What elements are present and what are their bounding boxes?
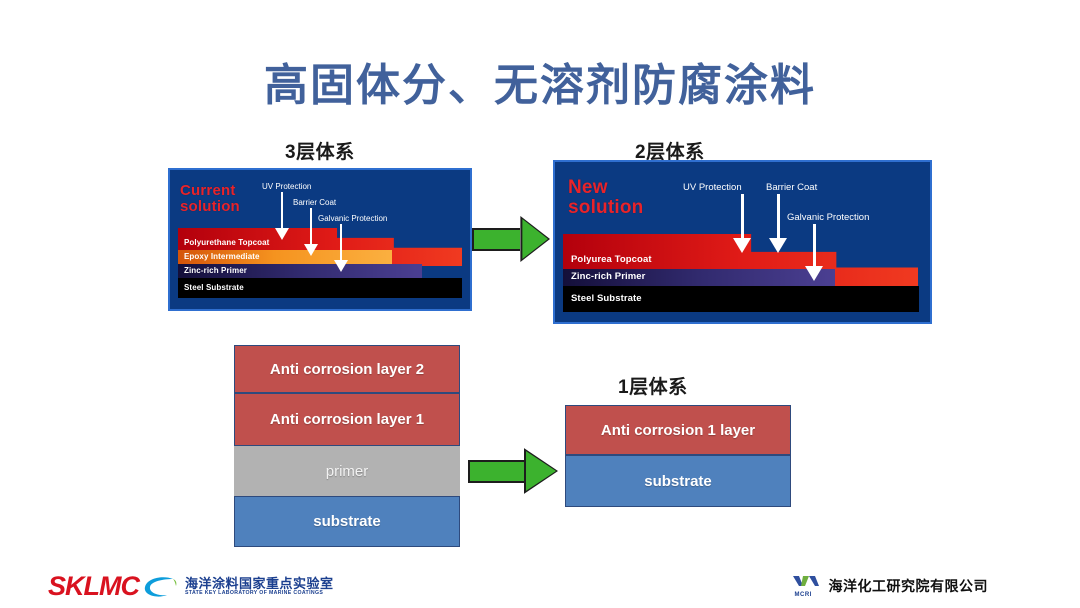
logo-mcri: MCRI 海洋化工研究院有限公司 bbox=[792, 574, 989, 598]
sklmc-chinese-name: 海洋涂料国家重点实验室 bbox=[185, 577, 334, 591]
panel-caption-current-solution: Current solution bbox=[180, 183, 240, 215]
callout-arrowhead-barrier bbox=[769, 238, 787, 253]
stratum-label-zinc-rich-primer: Zinc-rich Primer bbox=[184, 266, 247, 275]
slide-canvas: 高固体分、无溶剂防腐涂料 3层体系 2层体系 1层体系 Current solu… bbox=[0, 0, 1080, 608]
caption-line-2: solution bbox=[180, 198, 240, 215]
stratum-label-steel-substrate: Steel Substrate bbox=[184, 283, 244, 292]
stratum-label-polyurethane-topcoat: Polyurethane Topcoat bbox=[184, 238, 269, 247]
mcri-acronym: MCRI bbox=[795, 592, 812, 598]
callout-arrowhead-galvanic bbox=[334, 260, 348, 272]
callout-arrowhead-barrier bbox=[304, 244, 318, 256]
sklmc-text-block: 海洋涂料国家重点实验室 STATE KEY LABORATORY OF MARI… bbox=[185, 577, 334, 596]
transition-arrow-multi-to-1 bbox=[468, 448, 558, 494]
caption-line-2: solution bbox=[568, 197, 643, 218]
callout-label-galvanic-protection: Galvanic Protection bbox=[787, 212, 869, 223]
callout-stem-barrier bbox=[310, 208, 312, 246]
panel-caption-new-solution: New solution bbox=[568, 178, 643, 218]
page-title: 高固体分、无溶剂防腐涂料 bbox=[0, 60, 1080, 113]
stratum-label-polyurea-topcoat: Polyurea Topcoat bbox=[571, 254, 652, 265]
arrow-tip bbox=[526, 451, 556, 491]
callout-label-barrier-coat: Barrier Coat bbox=[293, 198, 336, 207]
caption-line-1: New bbox=[568, 177, 608, 198]
heading-one-layer-system: 1层体系 bbox=[618, 372, 688, 399]
layer-box-primer: primer bbox=[234, 446, 460, 496]
layer-box-anti-corrosion-2: Anti corrosion layer 2 bbox=[234, 345, 460, 393]
arrow-shaft bbox=[472, 228, 520, 251]
mcri-chinese-name: 海洋化工研究院有限公司 bbox=[829, 576, 989, 596]
transition-arrow-3-to-2 bbox=[472, 216, 550, 262]
heading-three-layer-system: 3层体系 bbox=[285, 137, 355, 164]
layer-box-anti-corrosion-1-layer: Anti corrosion 1 layer bbox=[565, 405, 791, 455]
callout-arrowhead-uv bbox=[733, 238, 751, 253]
stratum-label-zinc-rich-primer: Zinc-rich Primer bbox=[571, 271, 645, 282]
arrow-shaft bbox=[468, 460, 524, 483]
schematic-panel-new-solution: New solution UV Protection Barrier Coat … bbox=[553, 160, 932, 324]
footer: SKLMC 海洋涂料国家重点实验室 STATE KEY LABORATORY O… bbox=[0, 560, 1080, 608]
arrow-tip bbox=[522, 219, 548, 259]
callout-stem-uv bbox=[281, 192, 283, 230]
layer-box-substrate: substrate bbox=[565, 455, 791, 507]
mcri-mark-icon: MCRI bbox=[792, 574, 822, 598]
layer-stack-single: Anti corrosion 1 layer substrate bbox=[565, 405, 791, 507]
callout-label-barrier-coat: Barrier Coat bbox=[766, 182, 817, 193]
callout-stem-galvanic bbox=[813, 224, 816, 268]
layer-box-substrate: substrate bbox=[234, 496, 460, 547]
sklmc-english-name: STATE KEY LABORATORY OF MARINE COATINGS bbox=[185, 591, 334, 596]
stratum-label-steel-substrate: Steel Substrate bbox=[571, 293, 642, 304]
callout-label-uv-protection: UV Protection bbox=[683, 182, 742, 193]
layer-box-anti-corrosion-1: Anti corrosion layer 1 bbox=[234, 393, 460, 446]
callout-stem-uv bbox=[741, 194, 744, 240]
caption-line-1: Current bbox=[180, 182, 236, 199]
layer-stack-conventional: Anti corrosion layer 2 Anti corrosion la… bbox=[234, 345, 460, 547]
callout-arrowhead-uv bbox=[275, 228, 289, 240]
swoosh-icon bbox=[143, 576, 177, 598]
logo-sklmc: SKLMC 海洋涂料国家重点实验室 STATE KEY LABORATORY O… bbox=[48, 573, 334, 600]
callout-stem-barrier bbox=[777, 194, 780, 240]
sklmc-acronym: SKLMC bbox=[48, 573, 139, 600]
callout-stem-galvanic bbox=[340, 224, 342, 262]
callout-arrowhead-galvanic bbox=[805, 266, 823, 281]
stratum-label-epoxy-intermediate: Epoxy Intermediate bbox=[184, 252, 260, 261]
callout-label-galvanic-protection: Galvanic Protection bbox=[318, 214, 387, 223]
schematic-panel-current-solution: Current solution UV Protection Barrier C… bbox=[168, 168, 472, 311]
callout-label-uv-protection: UV Protection bbox=[262, 182, 311, 191]
